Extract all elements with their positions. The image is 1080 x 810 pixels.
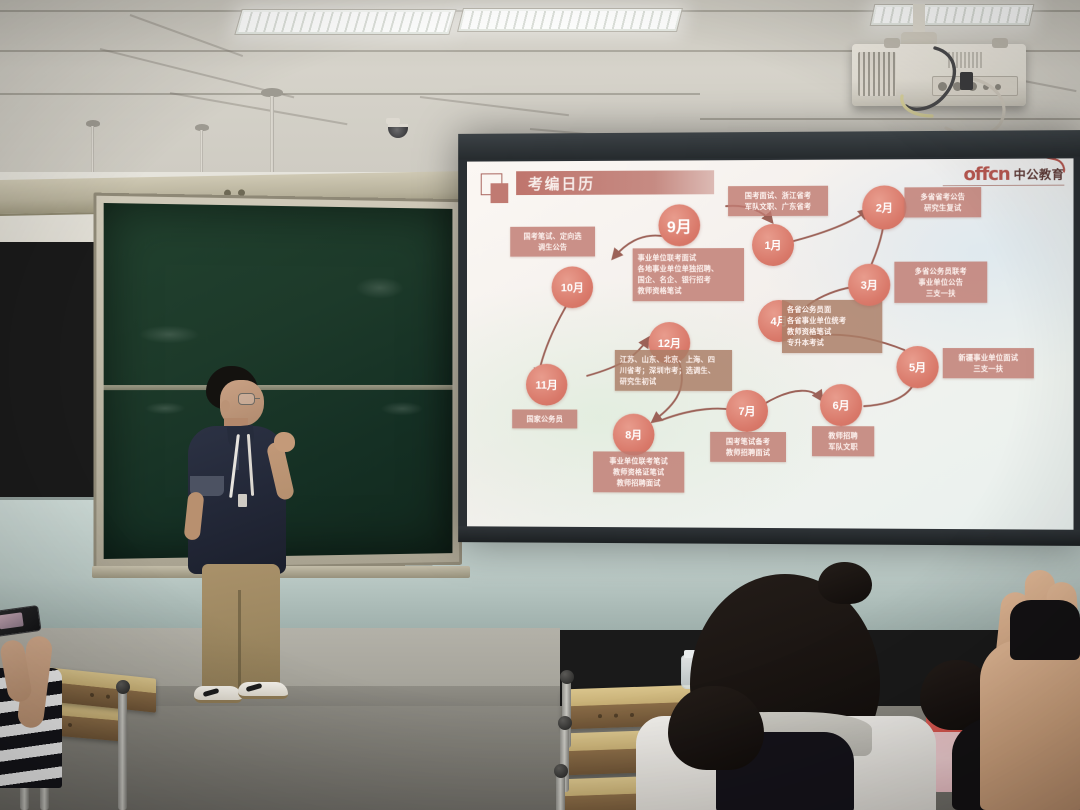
hanging-rod bbox=[200, 130, 203, 176]
callout-line: 各省公务员面 bbox=[787, 304, 877, 315]
projector-plug bbox=[960, 72, 973, 90]
callout-line: 国企、名企、银行招考 bbox=[638, 274, 739, 285]
id-badge bbox=[238, 494, 247, 507]
callout-line: 川省考；深圳市考；选调生、 bbox=[620, 365, 727, 376]
presenter bbox=[176, 360, 308, 730]
trouser-seam bbox=[238, 590, 241, 688]
node-label: 7月 bbox=[738, 403, 755, 419]
timeline-node-july[interactable]: 7月 bbox=[726, 390, 768, 432]
timeline-node-november[interactable]: 11月 bbox=[526, 364, 567, 406]
audience-silhouette bbox=[1010, 600, 1080, 660]
node-label: 8月 bbox=[625, 427, 642, 443]
callout-march: 多省公务员联考 事业单位公告 三支一扶 bbox=[894, 262, 987, 304]
timeline-node-october[interactable]: 10月 bbox=[552, 266, 593, 308]
callout-february: 多省省考公告 研究生复试 bbox=[904, 187, 981, 218]
slide-content: offcn 中公教育 考编日历 bbox=[467, 158, 1074, 529]
callout-line: 教师招聘面试 bbox=[598, 478, 679, 489]
callout-line: 研究生复试 bbox=[909, 202, 976, 213]
audience-hair-bun bbox=[818, 562, 872, 604]
presenter-shoe bbox=[238, 682, 288, 699]
callout-line: 国考笔试备考 bbox=[715, 436, 781, 447]
callout-line: 调生公告 bbox=[515, 242, 590, 253]
classroom-photo: offcn 中公教育 考编日历 bbox=[0, 0, 1080, 810]
callout-september: 事业单位联考面试 各地事业单位单独招聘、 国企、名企、银行招考 教师资格笔试 bbox=[633, 248, 744, 301]
callout-line: 国家公务员 bbox=[517, 413, 572, 424]
desk-leg-cap bbox=[560, 670, 574, 684]
callout-line: 教师招聘 bbox=[817, 430, 869, 441]
callout-november: 国家公务员 bbox=[512, 409, 577, 428]
hanging-rod bbox=[91, 126, 94, 176]
callout-may: 新疆事业单位面试 三支一扶 bbox=[943, 348, 1034, 379]
callout-line: 研究生初试 bbox=[620, 376, 727, 387]
callout-line: 新疆事业单位面试 bbox=[948, 352, 1029, 363]
callout-line: 江苏、山东、北京、上海、四 bbox=[620, 354, 727, 365]
callout-line: 教师招聘面试 bbox=[715, 447, 781, 458]
glasses-bridge bbox=[254, 398, 260, 399]
node-label: 12月 bbox=[658, 335, 681, 351]
callout-line: 事业单位公告 bbox=[899, 277, 982, 288]
presenter-shoe bbox=[194, 686, 242, 703]
palm bbox=[980, 640, 1080, 810]
callout-line: 各地事业单位单独招聘、 bbox=[638, 263, 739, 274]
projection-screen: offcn 中公教育 考编日历 bbox=[458, 130, 1080, 546]
callout-april: 各省公务员面 各省事业单位统考 教师资格笔试 专升本考试 bbox=[782, 300, 882, 353]
callout-line: 国考笔试、定向选 bbox=[515, 231, 590, 242]
dome-security-camera bbox=[388, 124, 408, 138]
callout-line: 各省事业单位统考 bbox=[787, 315, 877, 326]
callout-line: 教师资格证笔试 bbox=[598, 467, 679, 478]
node-label: 9月 bbox=[667, 213, 692, 237]
timeline-node-march[interactable]: 3月 bbox=[848, 264, 890, 306]
timeline-node-january[interactable]: 1月 bbox=[752, 224, 794, 266]
ceiling-light-fixture bbox=[457, 8, 683, 32]
callout-line: 事业单位联考面试 bbox=[638, 252, 739, 263]
audience-head bbox=[668, 686, 764, 770]
callout-line: 三支一扶 bbox=[948, 363, 1029, 374]
callout-january: 国考面试、浙江省考 军队文职、广东省考 bbox=[728, 186, 828, 217]
glasses-icon bbox=[238, 393, 255, 405]
desk-leg-cap bbox=[558, 716, 572, 730]
callout-line: 专升本考试 bbox=[787, 337, 877, 348]
callout-line: 军队文职 bbox=[817, 441, 869, 452]
callout-line: 国考面试、浙江省考 bbox=[733, 190, 823, 202]
presenter-hand bbox=[274, 432, 295, 452]
callout-line: 事业单位联考笔试 bbox=[598, 455, 679, 466]
timeline-node-february[interactable]: 2月 bbox=[862, 185, 906, 229]
desk-leg-cap bbox=[554, 764, 568, 778]
callout-december: 江苏、山东、北京、上海、四 川省考；深圳市考；选调生、 研究生初试 bbox=[615, 350, 732, 391]
node-label: 1月 bbox=[764, 237, 781, 253]
timeline-node-june[interactable]: 6月 bbox=[820, 384, 862, 426]
node-label: 11月 bbox=[535, 377, 557, 393]
callout-june: 教师招聘 军队文职 bbox=[812, 426, 874, 457]
timeline-node-september[interactable]: 9月 bbox=[658, 204, 700, 246]
presenter-trousers bbox=[202, 564, 280, 692]
callout-line: 教师资格笔试 bbox=[638, 286, 739, 297]
desk-leg bbox=[118, 686, 127, 810]
ceiling-light-fixture bbox=[234, 9, 456, 35]
node-label: 10月 bbox=[561, 279, 584, 295]
node-label: 3月 bbox=[861, 277, 878, 293]
timeline-node-august[interactable]: 8月 bbox=[613, 414, 655, 456]
slide-surface: offcn 中公教育 考编日历 bbox=[467, 158, 1074, 529]
callout-line: 军队文职、广东省考 bbox=[733, 201, 823, 213]
presenter-ear bbox=[221, 400, 230, 412]
callout-line: 教师资格笔试 bbox=[787, 326, 877, 337]
ceiling-light-fixture bbox=[870, 4, 1035, 26]
phone-screen bbox=[0, 612, 24, 629]
screen-top-bar bbox=[458, 130, 1080, 160]
node-label: 5月 bbox=[909, 359, 926, 375]
callout-august: 事业单位联考笔试 教师资格证笔试 教师招聘面试 bbox=[593, 451, 684, 493]
callout-line: 多省省考公告 bbox=[909, 191, 976, 202]
callout-line: 三支一扶 bbox=[899, 288, 982, 299]
callout-july: 国考笔试备考 教师招聘面试 bbox=[710, 432, 786, 463]
callout-october: 国考笔试、定向选 调生公告 bbox=[510, 227, 595, 257]
callout-line: 多省公务员联考 bbox=[899, 266, 982, 277]
node-label: 2月 bbox=[876, 199, 893, 215]
desk-leg-cap bbox=[116, 680, 130, 694]
node-label: 6月 bbox=[833, 397, 850, 413]
timeline-node-may[interactable]: 5月 bbox=[896, 346, 938, 388]
